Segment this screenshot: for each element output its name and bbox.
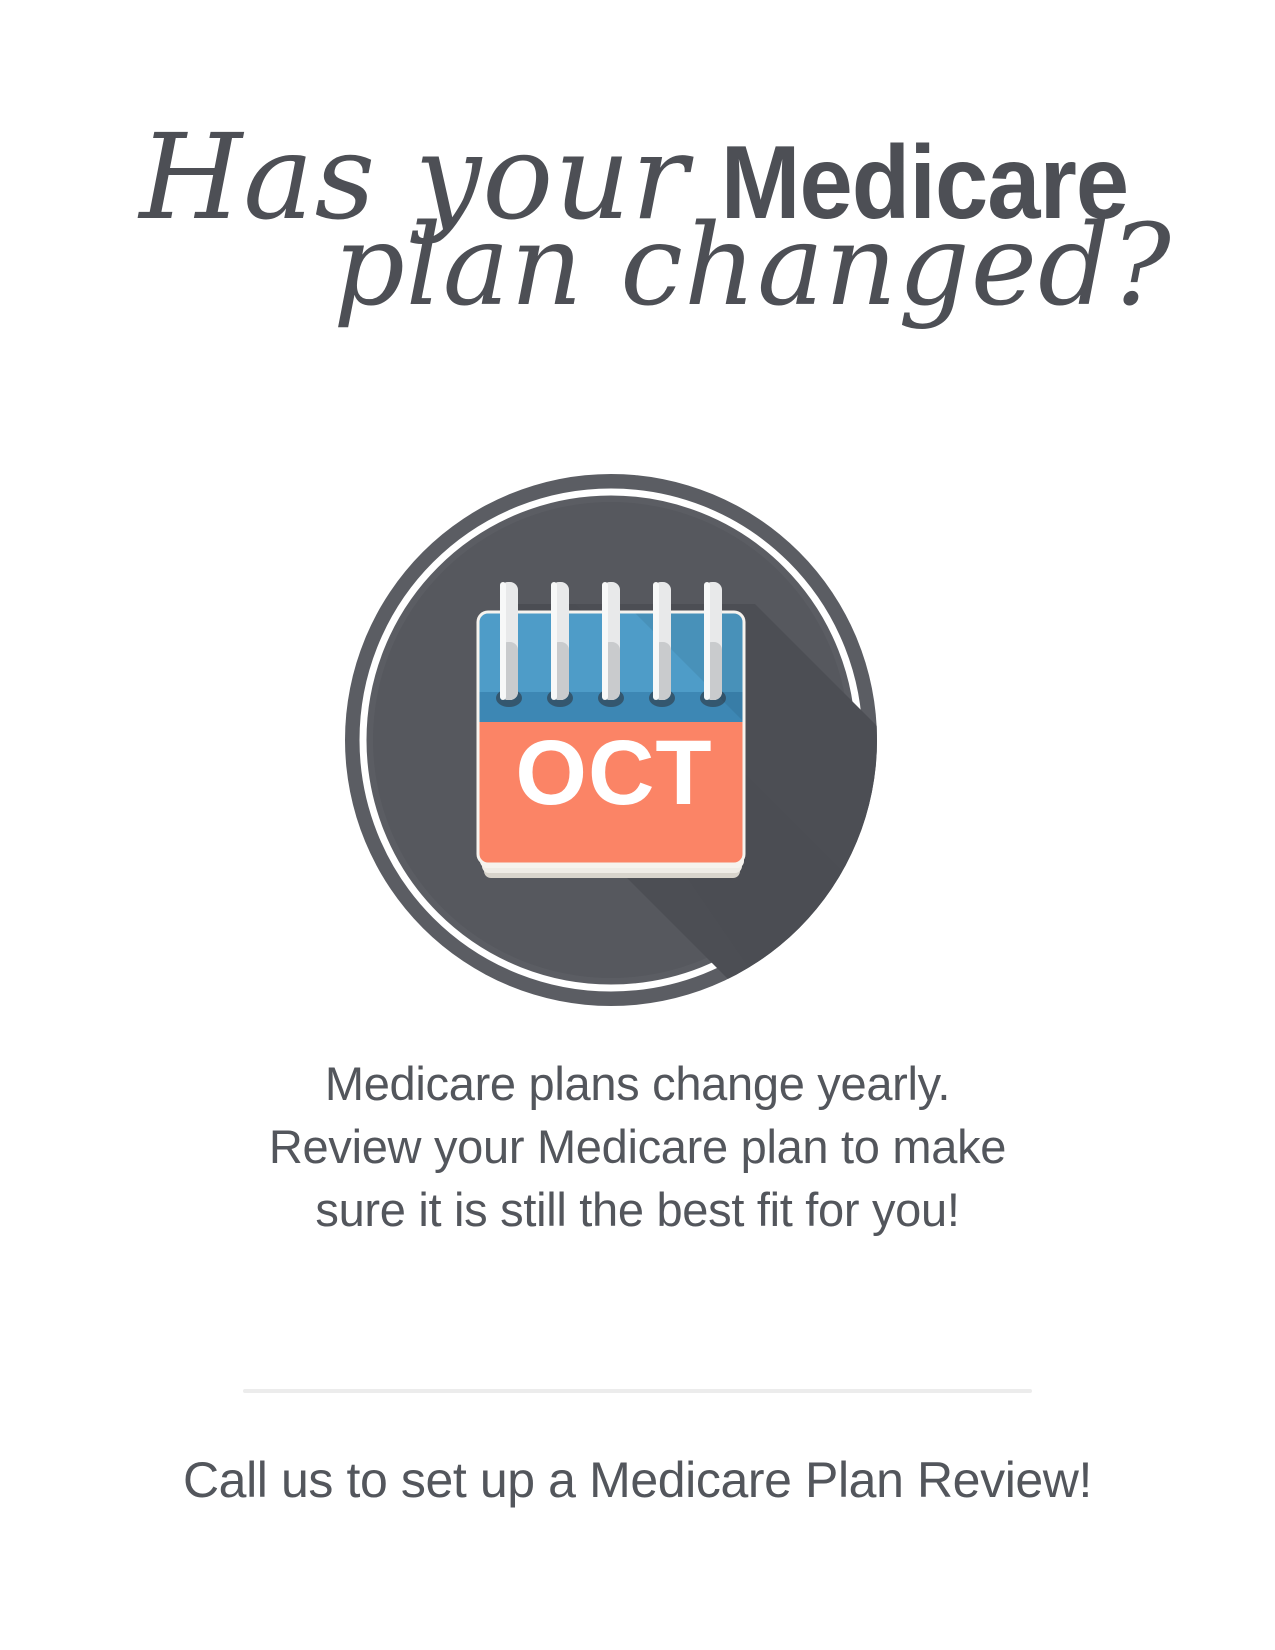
- headline-brand-medicare: Medicare: [720, 131, 1127, 235]
- medicare-flyer: Has yourMedicare plan changed?: [0, 0, 1275, 1650]
- body-copy-line-2: Review your Medicare plan to make: [0, 1115, 1275, 1178]
- section-divider: [243, 1389, 1032, 1393]
- october-calendar-icon: OCT: [345, 474, 877, 1006]
- call-to-action-text: Call us to set up a Medicare Plan Review…: [0, 1450, 1275, 1510]
- body-copy-line-3: sure it is still the best fit for you!: [0, 1178, 1275, 1241]
- body-copy-line-1: Medicare plans change yearly.: [0, 1052, 1275, 1115]
- body-copy: Medicare plans change yearly. Review you…: [0, 1052, 1275, 1241]
- calendar-month-label: OCT: [515, 722, 712, 824]
- headline: Has yourMedicare plan changed?: [0, 118, 1275, 322]
